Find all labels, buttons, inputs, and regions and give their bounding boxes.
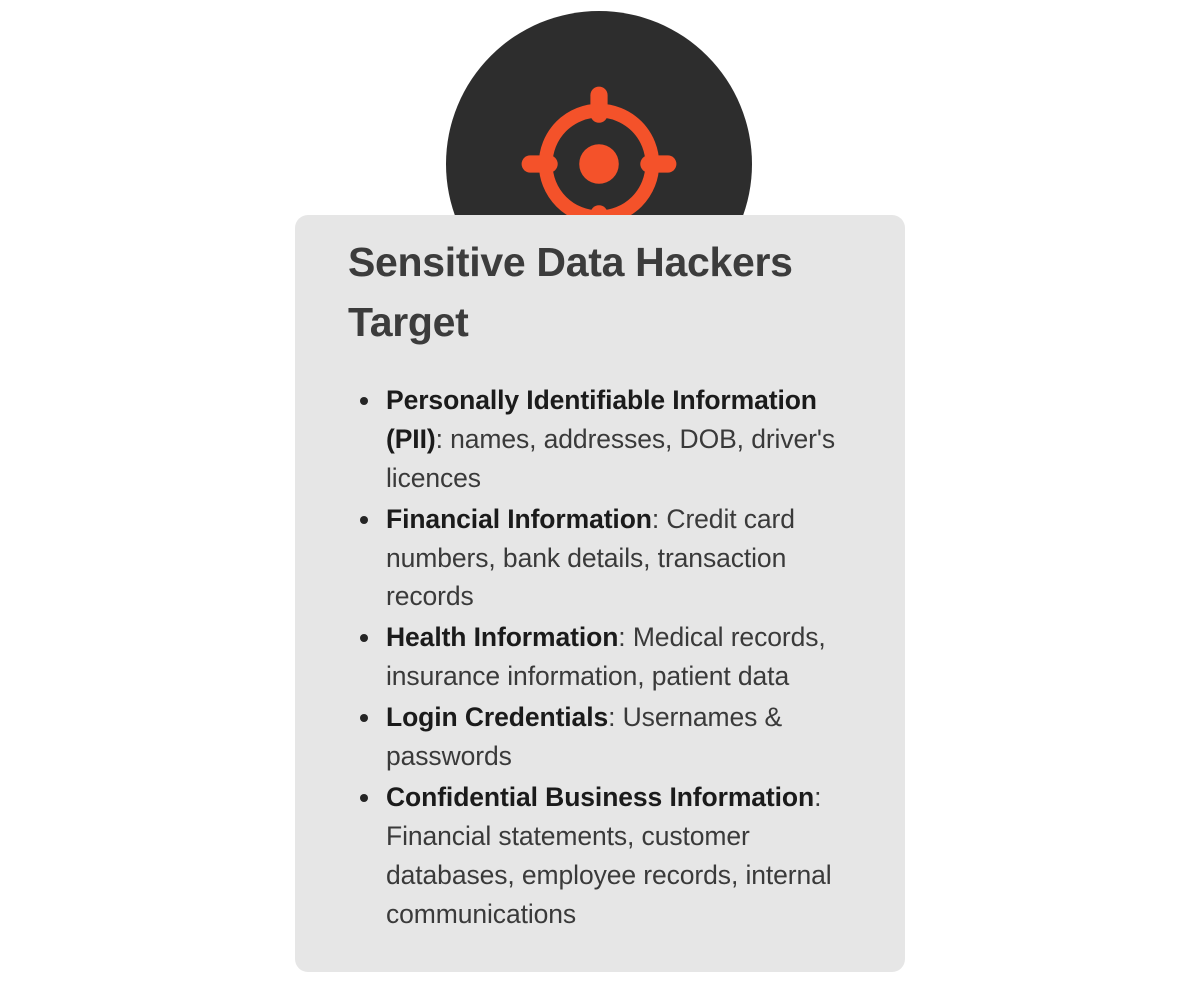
list-item-label: Login Credentials [386,702,608,732]
list-item: Health Information: Medical records, ins… [348,618,865,696]
page-title: Sensitive Data Hackers Target [348,233,865,353]
list-item-label: Confidential Business Information [386,782,814,812]
list-item-separator: : [436,424,451,454]
list-item-label: Financial Information [386,504,652,534]
list-item: Confidential Business Information: Finan… [348,778,865,934]
list-item: Personally Identifiable Information (PII… [348,381,865,498]
list-item-separator: : [618,622,633,652]
content-card: Sensitive Data Hackers Target Personally… [295,215,905,972]
list-item-description: names, addresses, DOB, driver's licences [386,424,835,493]
list-item-label: Health Information [386,622,618,652]
list-item-separator: : [608,702,623,732]
sensitive-data-list: Personally Identifiable Information (PII… [348,381,865,934]
list-item-separator: : [652,504,667,534]
list-item: Login Credentials: Usernames & passwords [348,698,865,776]
list-item-description: Financial statements, customer databases… [386,821,832,929]
list-item-separator: : [814,782,821,812]
sensitive-data-infographic: Sensitive Data Hackers Target Personally… [0,0,1200,984]
list-item: Financial Information: Credit card numbe… [348,500,865,617]
